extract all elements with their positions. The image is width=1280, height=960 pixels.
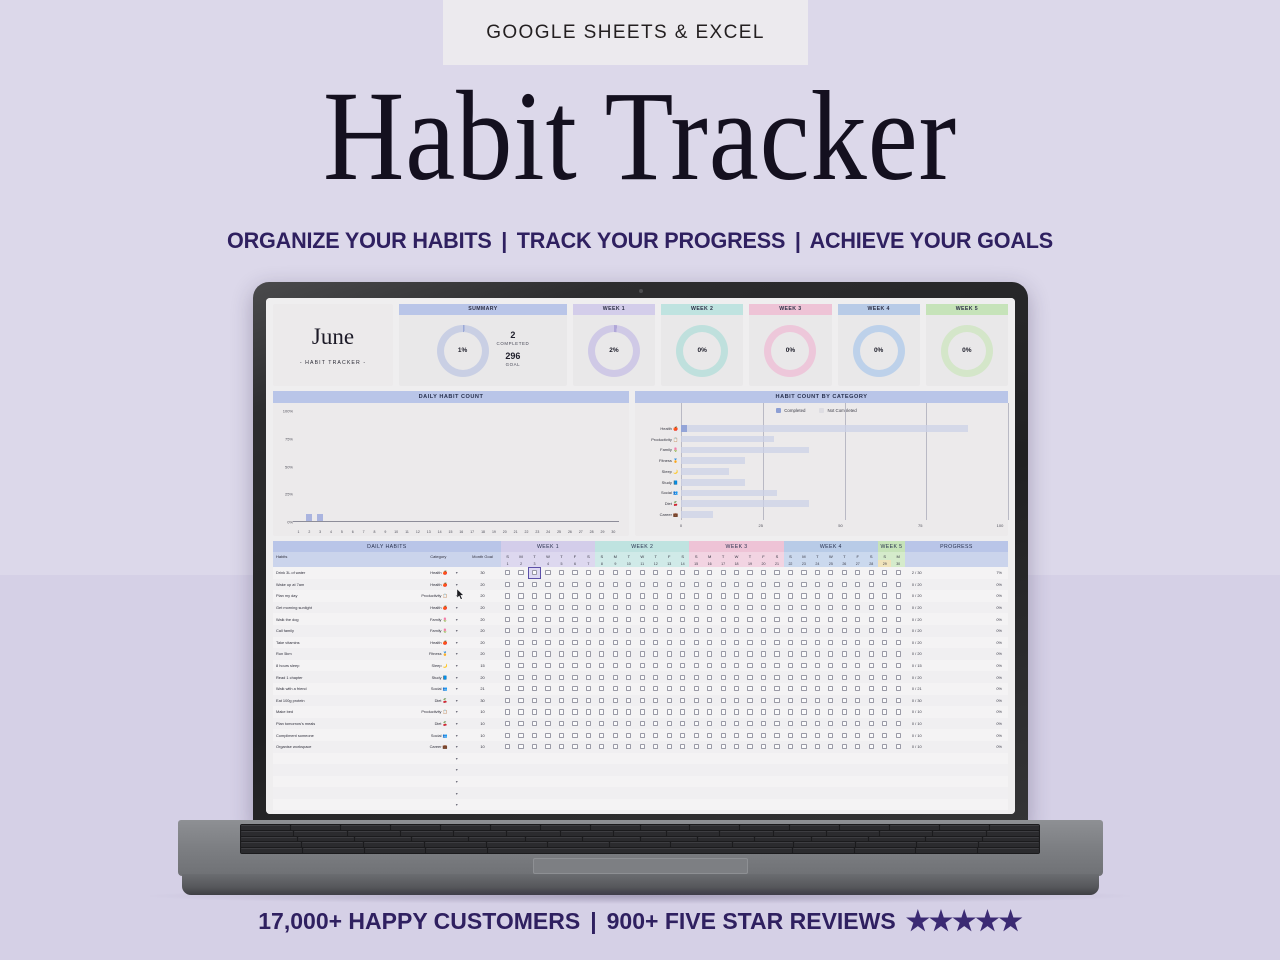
checkbox-icon[interactable] bbox=[680, 663, 685, 668]
empty-cell[interactable] bbox=[743, 764, 756, 776]
habit-checkbox-cell[interactable] bbox=[582, 660, 595, 672]
habit-checkbox-cell[interactable] bbox=[555, 613, 568, 625]
empty-cell[interactable] bbox=[541, 764, 554, 776]
habit-checkbox-cell[interactable] bbox=[582, 671, 595, 683]
checkbox-icon[interactable] bbox=[774, 733, 779, 738]
habit-checkbox-cell[interactable] bbox=[811, 718, 824, 730]
habit-checkbox-cell[interactable] bbox=[797, 648, 810, 660]
habit-checkbox-cell[interactable] bbox=[555, 706, 568, 718]
checkbox-icon[interactable] bbox=[801, 570, 806, 575]
habit-name-cell[interactable]: Eat 100g protein bbox=[273, 695, 387, 707]
checkbox-icon[interactable] bbox=[774, 721, 779, 726]
checkbox-icon[interactable] bbox=[667, 582, 672, 587]
checkbox-icon[interactable] bbox=[869, 640, 874, 645]
habit-checkbox-cell[interactable] bbox=[689, 648, 702, 660]
habit-checkbox-cell[interactable] bbox=[851, 590, 864, 602]
checkbox-icon[interactable] bbox=[801, 628, 806, 633]
habit-checkbox-cell[interactable] bbox=[514, 567, 527, 579]
habit-checkbox-cell[interactable] bbox=[689, 602, 702, 614]
habit-checkbox-cell[interactable] bbox=[609, 683, 622, 695]
habit-checkbox-cell[interactable] bbox=[824, 625, 837, 637]
habit-checkbox-cell[interactable] bbox=[891, 567, 904, 579]
empty-cell[interactable] bbox=[824, 810, 837, 814]
empty-cell[interactable] bbox=[797, 776, 810, 788]
habit-checkbox-cell[interactable] bbox=[501, 706, 514, 718]
habit-checkbox-cell[interactable] bbox=[676, 602, 689, 614]
checkbox-icon[interactable] bbox=[505, 663, 510, 668]
empty-cell[interactable] bbox=[865, 810, 878, 814]
empty-cell[interactable] bbox=[636, 787, 649, 799]
empty-cell[interactable] bbox=[568, 787, 581, 799]
empty-cell[interactable] bbox=[676, 776, 689, 788]
checkbox-icon[interactable] bbox=[828, 640, 833, 645]
checkbox-icon[interactable] bbox=[667, 605, 672, 610]
habit-checkbox-cell[interactable] bbox=[730, 579, 743, 591]
habit-category-cell[interactable]: Health 🍎 bbox=[387, 567, 449, 579]
habit-checkbox-cell[interactable] bbox=[851, 683, 864, 695]
habit-month-goal-cell[interactable]: 10 bbox=[464, 729, 501, 741]
checkbox-icon[interactable] bbox=[653, 698, 658, 703]
habit-checkbox-cell[interactable] bbox=[622, 637, 635, 649]
habit-checkbox-cell[interactable] bbox=[689, 567, 702, 579]
habit-checkbox-cell[interactable] bbox=[743, 683, 756, 695]
habit-checkbox-cell[interactable] bbox=[838, 567, 851, 579]
empty-habit-row[interactable]: ▾ bbox=[273, 799, 1008, 811]
empty-cell[interactable] bbox=[905, 810, 964, 814]
checkbox-icon[interactable] bbox=[653, 675, 658, 680]
checkbox-icon[interactable] bbox=[855, 698, 860, 703]
checkbox-icon[interactable] bbox=[559, 663, 564, 668]
checkbox-icon[interactable] bbox=[545, 698, 550, 703]
empty-habit-row[interactable]: ▾ bbox=[273, 753, 1008, 765]
checkbox-icon[interactable] bbox=[559, 651, 564, 656]
empty-cell[interactable] bbox=[609, 810, 622, 814]
habit-checkbox-cell[interactable] bbox=[568, 648, 581, 660]
habit-checkbox-cell[interactable] bbox=[689, 579, 702, 591]
checkbox-icon[interactable] bbox=[828, 675, 833, 680]
checkbox-icon[interactable] bbox=[505, 605, 510, 610]
habit-checkbox-cell[interactable] bbox=[514, 729, 527, 741]
habit-checkbox-cell[interactable] bbox=[824, 648, 837, 660]
empty-cell[interactable] bbox=[689, 776, 702, 788]
habit-checkbox-cell[interactable] bbox=[824, 660, 837, 672]
checkbox-icon[interactable] bbox=[572, 617, 577, 622]
empty-cell[interactable] bbox=[528, 764, 541, 776]
habit-checkbox-cell[interactable] bbox=[851, 602, 864, 614]
checkbox-icon[interactable] bbox=[774, 605, 779, 610]
checkbox-icon[interactable] bbox=[882, 582, 887, 587]
habit-checkbox-cell[interactable] bbox=[595, 602, 608, 614]
habit-checkbox-cell[interactable] bbox=[784, 671, 797, 683]
empty-cell[interactable] bbox=[851, 776, 864, 788]
habit-checkbox-cell[interactable] bbox=[555, 648, 568, 660]
checkbox-icon[interactable] bbox=[599, 570, 604, 575]
habit-checkbox-cell[interactable] bbox=[730, 602, 743, 614]
empty-cell[interactable] bbox=[689, 787, 702, 799]
checkbox-icon[interactable] bbox=[882, 570, 887, 575]
habit-checkbox-cell[interactable] bbox=[514, 741, 527, 753]
habit-checkbox-cell[interactable] bbox=[770, 741, 783, 753]
habit-checkbox-cell[interactable] bbox=[703, 683, 716, 695]
empty-cell[interactable] bbox=[528, 753, 541, 765]
habit-row[interactable]: Run 5kmFitness 🏅▾200 / 200% bbox=[273, 648, 1008, 660]
habit-checkbox-cell[interactable] bbox=[622, 718, 635, 730]
habit-checkbox-cell[interactable] bbox=[582, 625, 595, 637]
checkbox-icon[interactable] bbox=[640, 651, 645, 656]
empty-cell[interactable] bbox=[784, 776, 797, 788]
empty-cell[interactable] bbox=[555, 753, 568, 765]
habit-checkbox-cell[interactable] bbox=[555, 660, 568, 672]
checkbox-icon[interactable] bbox=[559, 675, 564, 680]
checkbox-icon[interactable] bbox=[599, 582, 604, 587]
habit-checkbox-cell[interactable] bbox=[838, 718, 851, 730]
empty-cell[interactable] bbox=[555, 776, 568, 788]
empty-cell[interactable] bbox=[582, 799, 595, 811]
empty-cell[interactable] bbox=[811, 787, 824, 799]
checkbox-icon[interactable] bbox=[667, 663, 672, 668]
habit-checkbox-cell[interactable] bbox=[838, 613, 851, 625]
habit-checkbox-cell[interactable] bbox=[865, 683, 878, 695]
habit-checkbox-cell[interactable] bbox=[555, 602, 568, 614]
checkbox-icon[interactable] bbox=[828, 698, 833, 703]
checkbox-icon[interactable] bbox=[505, 628, 510, 633]
empty-cell[interactable] bbox=[273, 776, 387, 788]
habit-checkbox-cell[interactable] bbox=[649, 637, 662, 649]
habit-checkbox-cell[interactable] bbox=[730, 567, 743, 579]
habit-checkbox-cell[interactable] bbox=[662, 660, 675, 672]
habit-checkbox-cell[interactable] bbox=[622, 741, 635, 753]
empty-cell[interactable] bbox=[676, 787, 689, 799]
checkbox-icon[interactable] bbox=[882, 698, 887, 703]
empty-cell[interactable] bbox=[568, 799, 581, 811]
checkbox-icon[interactable] bbox=[801, 675, 806, 680]
checkbox-icon[interactable] bbox=[747, 651, 752, 656]
checkbox-icon[interactable] bbox=[855, 744, 860, 749]
checkbox-icon[interactable] bbox=[613, 721, 618, 726]
habit-checkbox-cell[interactable] bbox=[811, 648, 824, 660]
habit-checkbox-cell[interactable] bbox=[528, 671, 541, 683]
habit-checkbox-cell[interactable] bbox=[636, 625, 649, 637]
checkbox-icon[interactable] bbox=[761, 663, 766, 668]
checkbox-icon[interactable] bbox=[559, 733, 564, 738]
habit-checkbox-cell[interactable] bbox=[743, 741, 756, 753]
checkbox-icon[interactable] bbox=[505, 721, 510, 726]
habit-checkbox-cell[interactable] bbox=[555, 625, 568, 637]
habit-checkbox-cell[interactable] bbox=[649, 729, 662, 741]
checkbox-icon[interactable] bbox=[653, 617, 658, 622]
habit-checkbox-cell[interactable] bbox=[716, 637, 729, 649]
empty-cell[interactable] bbox=[703, 799, 716, 811]
checkbox-icon[interactable] bbox=[572, 721, 577, 726]
habit-checkbox-cell[interactable] bbox=[501, 613, 514, 625]
empty-cell[interactable] bbox=[649, 787, 662, 799]
habit-checkbox-cell[interactable] bbox=[811, 567, 824, 579]
habit-category-cell[interactable]: Sleep 🌙 bbox=[387, 660, 449, 672]
empty-cell[interactable] bbox=[757, 810, 770, 814]
checkbox-icon[interactable] bbox=[882, 663, 887, 668]
empty-cell[interactable] bbox=[838, 799, 851, 811]
habit-checkbox-cell[interactable] bbox=[622, 613, 635, 625]
habit-checkbox-cell[interactable] bbox=[595, 671, 608, 683]
habit-row[interactable]: Eat 100g proteinDiet 🍒▾300 / 300% bbox=[273, 695, 1008, 707]
habit-checkbox-cell[interactable] bbox=[676, 567, 689, 579]
checkbox-icon[interactable] bbox=[586, 582, 591, 587]
empty-cell[interactable] bbox=[662, 776, 675, 788]
checkbox-icon[interactable] bbox=[747, 640, 752, 645]
checkbox-icon[interactable] bbox=[801, 640, 806, 645]
checkbox-icon[interactable] bbox=[828, 709, 833, 714]
checkbox-icon[interactable] bbox=[788, 617, 793, 622]
habit-checkbox-cell[interactable] bbox=[770, 695, 783, 707]
checkbox-icon[interactable] bbox=[626, 663, 631, 668]
checkbox-icon[interactable] bbox=[586, 628, 591, 633]
checkbox-icon[interactable] bbox=[545, 628, 550, 633]
habit-checkbox-cell[interactable] bbox=[636, 729, 649, 741]
habit-checkbox-cell[interactable] bbox=[649, 567, 662, 579]
empty-cell[interactable] bbox=[636, 753, 649, 765]
habit-checkbox-cell[interactable] bbox=[891, 637, 904, 649]
habit-checkbox-cell[interactable] bbox=[703, 695, 716, 707]
checkbox-icon[interactable] bbox=[721, 698, 726, 703]
checkbox-icon[interactable] bbox=[518, 744, 523, 749]
checkbox-icon[interactable] bbox=[653, 663, 658, 668]
habit-checkbox-cell[interactable] bbox=[501, 729, 514, 741]
empty-cell[interactable] bbox=[582, 764, 595, 776]
checkbox-icon[interactable] bbox=[599, 628, 604, 633]
checkbox-icon[interactable] bbox=[694, 628, 699, 633]
empty-cell[interactable] bbox=[964, 753, 1008, 765]
habit-checkbox-cell[interactable] bbox=[662, 567, 675, 579]
checkbox-icon[interactable] bbox=[734, 582, 739, 587]
habit-checkbox-cell[interactable] bbox=[851, 660, 864, 672]
habit-checkbox-cell[interactable] bbox=[514, 648, 527, 660]
checkbox-icon[interactable] bbox=[842, 721, 847, 726]
checkbox-icon[interactable] bbox=[747, 686, 752, 691]
checkbox-icon[interactable] bbox=[613, 628, 618, 633]
habit-checkbox-cell[interactable] bbox=[703, 567, 716, 579]
habit-category-cell[interactable]: Health 🍎 bbox=[387, 637, 449, 649]
habit-checkbox-cell[interactable] bbox=[878, 741, 891, 753]
checkbox-icon[interactable] bbox=[707, 698, 712, 703]
checkbox-icon[interactable] bbox=[882, 733, 887, 738]
habit-checkbox-cell[interactable] bbox=[784, 741, 797, 753]
habit-checkbox-cell[interactable] bbox=[824, 590, 837, 602]
checkbox-icon[interactable] bbox=[869, 744, 874, 749]
checkbox-icon[interactable] bbox=[882, 744, 887, 749]
habit-checkbox-cell[interactable] bbox=[703, 729, 716, 741]
habit-checkbox-cell[interactable] bbox=[838, 683, 851, 695]
checkbox-icon[interactable] bbox=[626, 709, 631, 714]
checkbox-icon[interactable] bbox=[882, 721, 887, 726]
habit-checkbox-cell[interactable] bbox=[784, 718, 797, 730]
empty-cell[interactable] bbox=[703, 753, 716, 765]
empty-cell[interactable] bbox=[609, 799, 622, 811]
checkbox-icon[interactable] bbox=[828, 721, 833, 726]
checkbox-icon[interactable] bbox=[721, 675, 726, 680]
habit-checkbox-cell[interactable] bbox=[865, 671, 878, 683]
checkbox-icon[interactable] bbox=[842, 733, 847, 738]
empty-cell[interactable] bbox=[784, 787, 797, 799]
checkbox-icon[interactable] bbox=[680, 628, 685, 633]
checkbox-icon[interactable] bbox=[586, 698, 591, 703]
habit-checkbox-cell[interactable] bbox=[501, 695, 514, 707]
chevron-down-icon[interactable]: ▾ bbox=[449, 695, 464, 707]
checkbox-icon[interactable] bbox=[842, 570, 847, 575]
checkbox-icon[interactable] bbox=[842, 675, 847, 680]
empty-cell[interactable] bbox=[730, 810, 743, 814]
empty-cell[interactable] bbox=[582, 787, 595, 799]
habit-checkbox-cell[interactable] bbox=[636, 695, 649, 707]
checkbox-icon[interactable] bbox=[640, 733, 645, 738]
empty-cell[interactable] bbox=[878, 799, 891, 811]
checkbox-icon[interactable] bbox=[532, 570, 537, 575]
checkbox-icon[interactable] bbox=[774, 698, 779, 703]
checkbox-icon[interactable] bbox=[680, 617, 685, 622]
checkbox-icon[interactable] bbox=[599, 675, 604, 680]
habit-checkbox-cell[interactable] bbox=[662, 590, 675, 602]
empty-cell[interactable] bbox=[636, 776, 649, 788]
habit-month-goal-cell[interactable]: 20 bbox=[464, 602, 501, 614]
checkbox-icon[interactable] bbox=[572, 733, 577, 738]
checkbox-icon[interactable] bbox=[518, 605, 523, 610]
checkbox-icon[interactable] bbox=[626, 605, 631, 610]
habit-checkbox-cell[interactable] bbox=[568, 683, 581, 695]
empty-cell[interactable] bbox=[743, 753, 756, 765]
checkbox-icon[interactable] bbox=[559, 570, 564, 575]
checkbox-icon[interactable] bbox=[882, 675, 887, 680]
habit-checkbox-cell[interactable] bbox=[514, 579, 527, 591]
checkbox-icon[interactable] bbox=[640, 709, 645, 714]
checkbox-icon[interactable] bbox=[761, 605, 766, 610]
habit-checkbox-cell[interactable] bbox=[676, 671, 689, 683]
empty-cell[interactable] bbox=[273, 753, 387, 765]
habit-checkbox-cell[interactable] bbox=[797, 706, 810, 718]
checkbox-icon[interactable] bbox=[774, 709, 779, 714]
habit-checkbox-cell[interactable] bbox=[501, 625, 514, 637]
checkbox-icon[interactable] bbox=[707, 651, 712, 656]
checkbox-icon[interactable] bbox=[707, 709, 712, 714]
checkbox-icon[interactable] bbox=[896, 733, 901, 738]
checkbox-icon[interactable] bbox=[518, 640, 523, 645]
checkbox-icon[interactable] bbox=[828, 628, 833, 633]
checkbox-icon[interactable] bbox=[774, 686, 779, 691]
habit-checkbox-cell[interactable] bbox=[541, 695, 554, 707]
checkbox-icon[interactable] bbox=[572, 744, 577, 749]
habit-checkbox-cell[interactable] bbox=[824, 567, 837, 579]
checkbox-icon[interactable] bbox=[667, 570, 672, 575]
empty-cell[interactable] bbox=[689, 764, 702, 776]
habit-month-goal-cell[interactable]: 20 bbox=[464, 637, 501, 649]
checkbox-icon[interactable] bbox=[707, 744, 712, 749]
chevron-down-icon[interactable]: ▾ bbox=[449, 660, 464, 672]
habit-checkbox-cell[interactable] bbox=[582, 579, 595, 591]
habit-checkbox-cell[interactable] bbox=[528, 590, 541, 602]
checkbox-icon[interactable] bbox=[747, 617, 752, 622]
habit-checkbox-cell[interactable] bbox=[541, 602, 554, 614]
habit-checkbox-cell[interactable] bbox=[851, 729, 864, 741]
empty-cell[interactable] bbox=[662, 753, 675, 765]
checkbox-icon[interactable] bbox=[774, 582, 779, 587]
checkbox-icon[interactable] bbox=[518, 593, 523, 598]
checkbox-icon[interactable] bbox=[653, 709, 658, 714]
habit-checkbox-cell[interactable] bbox=[555, 741, 568, 753]
habit-checkbox-cell[interactable] bbox=[649, 718, 662, 730]
habit-checkbox-cell[interactable] bbox=[851, 741, 864, 753]
checkbox-icon[interactable] bbox=[734, 663, 739, 668]
checkbox-icon[interactable] bbox=[869, 651, 874, 656]
habit-checkbox-cell[interactable] bbox=[797, 683, 810, 695]
chevron-down-icon[interactable]: ▾ bbox=[449, 671, 464, 683]
habit-row[interactable]: Get morning sunlightHealth 🍎▾200 / 200% bbox=[273, 602, 1008, 614]
checkbox-icon[interactable] bbox=[518, 582, 523, 587]
checkbox-icon[interactable] bbox=[869, 686, 874, 691]
checkbox-icon[interactable] bbox=[653, 651, 658, 656]
habit-checkbox-cell[interactable] bbox=[730, 671, 743, 683]
habit-checkbox-cell[interactable] bbox=[838, 602, 851, 614]
checkbox-icon[interactable] bbox=[694, 593, 699, 598]
empty-cell[interactable] bbox=[501, 810, 514, 814]
checkbox-icon[interactable] bbox=[855, 686, 860, 691]
habit-checkbox-cell[interactable] bbox=[622, 602, 635, 614]
habit-checkbox-cell[interactable] bbox=[716, 579, 729, 591]
empty-cell[interactable] bbox=[568, 764, 581, 776]
habit-checkbox-cell[interactable] bbox=[636, 706, 649, 718]
empty-cell[interactable] bbox=[891, 753, 904, 765]
habit-row[interactable]: Plan tomorrow's mealsDiet 🍒▾100 / 100% bbox=[273, 718, 1008, 730]
checkbox-icon[interactable] bbox=[815, 582, 820, 587]
empty-cell[interactable] bbox=[905, 787, 964, 799]
habit-checkbox-cell[interactable] bbox=[797, 625, 810, 637]
habit-checkbox-cell[interactable] bbox=[878, 718, 891, 730]
empty-cell[interactable] bbox=[568, 753, 581, 765]
empty-cell[interactable] bbox=[514, 799, 527, 811]
empty-cell[interactable] bbox=[865, 787, 878, 799]
habit-checkbox-cell[interactable] bbox=[811, 683, 824, 695]
checkbox-icon[interactable] bbox=[572, 663, 577, 668]
checkbox-icon[interactable] bbox=[774, 744, 779, 749]
habit-checkbox-cell[interactable] bbox=[541, 706, 554, 718]
checkbox-icon[interactable] bbox=[653, 733, 658, 738]
checkbox-icon[interactable] bbox=[532, 640, 537, 645]
checkbox-icon[interactable] bbox=[828, 733, 833, 738]
checkbox-icon[interactable] bbox=[707, 663, 712, 668]
checkbox-icon[interactable] bbox=[613, 593, 618, 598]
habit-checkbox-cell[interactable] bbox=[784, 567, 797, 579]
checkbox-icon[interactable] bbox=[721, 651, 726, 656]
habit-row[interactable]: Plan my dayProductivity 📋▾200 / 200% bbox=[273, 590, 1008, 602]
chevron-down-icon[interactable]: ▾ bbox=[449, 706, 464, 718]
chevron-down-icon[interactable]: ▾ bbox=[449, 810, 464, 814]
empty-cell[interactable] bbox=[851, 799, 864, 811]
habit-checkbox-cell[interactable] bbox=[784, 613, 797, 625]
habit-row[interactable]: Organise workspaceCareer 💼▾100 / 100% bbox=[273, 741, 1008, 753]
checkbox-icon[interactable] bbox=[694, 651, 699, 656]
habit-checkbox-cell[interactable] bbox=[851, 625, 864, 637]
habit-checkbox-cell[interactable] bbox=[770, 660, 783, 672]
habit-checkbox-cell[interactable] bbox=[649, 579, 662, 591]
checkbox-icon[interactable] bbox=[694, 744, 699, 749]
checkbox-icon[interactable] bbox=[518, 663, 523, 668]
checkbox-icon[interactable] bbox=[572, 651, 577, 656]
checkbox-icon[interactable] bbox=[586, 617, 591, 622]
habit-checkbox-cell[interactable] bbox=[636, 579, 649, 591]
checkbox-icon[interactable] bbox=[747, 721, 752, 726]
habit-category-cell[interactable]: Study 📘 bbox=[387, 671, 449, 683]
habit-checkbox-cell[interactable] bbox=[501, 718, 514, 730]
checkbox-icon[interactable] bbox=[815, 733, 820, 738]
checkbox-icon[interactable] bbox=[640, 640, 645, 645]
checkbox-icon[interactable] bbox=[761, 721, 766, 726]
